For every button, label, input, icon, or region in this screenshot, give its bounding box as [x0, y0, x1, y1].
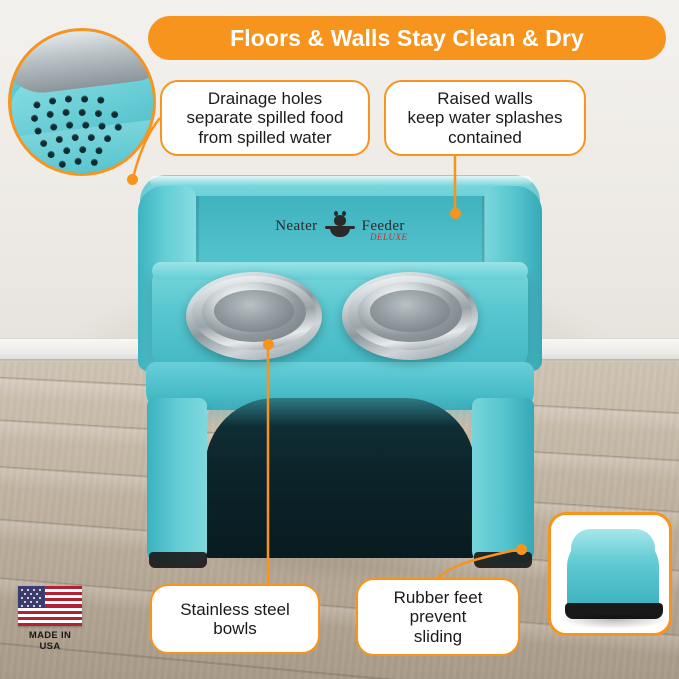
callout-raised-walls: Raised walls keep water splashes contain…: [384, 80, 586, 156]
product-infographic: Neater Feeder DELUXE Floors & Walls Stay…: [0, 0, 679, 679]
drainage-holes-pattern: [29, 86, 153, 176]
us-flag-icon: [18, 586, 82, 626]
callout-feet-line-1: Rubber feet: [394, 588, 483, 607]
callout-walls-line-3: contained: [408, 128, 563, 147]
callout-stainless-bowls: Stainless steel bowls: [150, 584, 320, 654]
callout-drainage-line-1: Drainage holes: [187, 89, 344, 108]
leader-dot-bowls: [263, 339, 274, 350]
callout-walls-line-1: Raised walls: [408, 89, 563, 108]
leader-dot-feet: [516, 544, 527, 555]
callout-walls-line-2: keep water splashes: [408, 108, 563, 127]
leader-dot-drainage: [127, 174, 138, 185]
header-banner: Floors & Walls Stay Clean & Dry: [148, 16, 666, 60]
callout-bowls-line-2: bowls: [180, 619, 290, 638]
callout-bowls-line-1: Stainless steel: [180, 600, 290, 619]
made-in-usa-badge: MADE IN USA: [18, 586, 90, 648]
made-in-usa-label: MADE IN USA: [18, 630, 82, 652]
left-rubber-foot: [149, 552, 207, 568]
header-banner-text: Floors & Walls Stay Clean & Dry: [230, 25, 584, 52]
feeder-arch-highlight: [205, 398, 475, 426]
feeder-tray-lip: [152, 262, 528, 280]
feeder-right-leg: [472, 398, 534, 563]
feeder-left-leg: [147, 398, 207, 563]
inset-drainage-holes: [8, 28, 156, 176]
stainless-bowl-left-well: [214, 290, 294, 332]
stainless-bowl-right-well: [370, 290, 450, 332]
callout-feet-line-2: prevent: [394, 607, 483, 626]
callout-drainage-holes: Drainage holes separate spilled food fro…: [160, 80, 370, 156]
brand-subtitle: DELUXE: [370, 232, 408, 242]
callout-drainage-line-2: separate spilled food: [187, 108, 344, 127]
brand-word-left: Neater: [275, 218, 317, 235]
leader-dot-walls: [450, 208, 461, 219]
brand-logo: Neater Feeder DELUXE: [250, 206, 430, 246]
callout-rubber-feet: Rubber feet prevent sliding: [356, 578, 520, 656]
feeder-top-highlight: [150, 176, 532, 186]
inset-rubber-foot: [548, 512, 672, 636]
callout-feet-line-3: sliding: [394, 627, 483, 646]
paw-bowl-icon: [323, 213, 357, 239]
callout-drainage-line-3: from spilled water: [187, 128, 344, 147]
